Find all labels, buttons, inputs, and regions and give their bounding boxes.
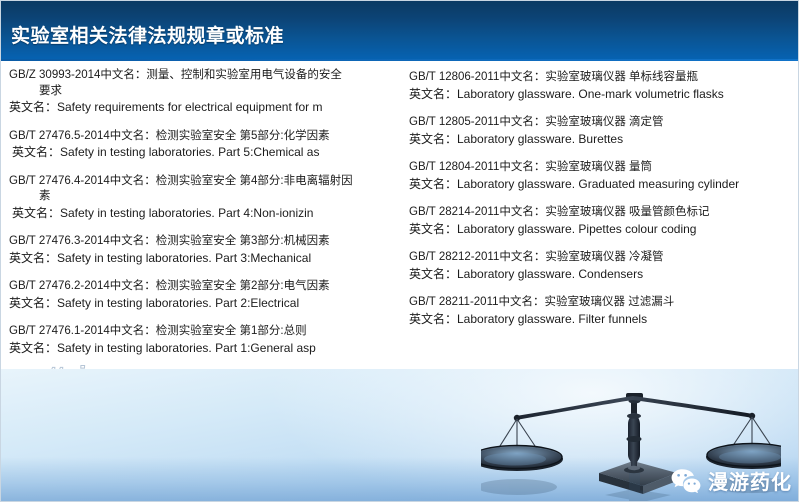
standard-entry: GB/T 28211-2011中文名：实验室玻璃仪器 过滤漏斗 英文名：Labo… [409,295,794,327]
standard-cn-name: GB/T 27476.5-2014中文名：检测实验室安全 第5部分:化学因素 [9,129,399,145]
standard-entry: GB/T 27476.3-2014中文名：检测实验室安全 第3部分:机械因素 英… [9,234,399,266]
standard-cn-name-cont: 要求 [9,84,399,100]
standard-cn-name: GB/T 27476.4-2014中文名：检测实验室安全 第4部分:非电离辐射因 [9,174,399,190]
standard-en-name: 英文名：Safety in testing laboratories. Part… [9,341,399,357]
standard-en-name: 英文名：Laboratory glassware. Graduated meas… [409,177,794,193]
standard-en-name: 英文名：Laboratory glassware. Burettes [409,132,794,148]
standard-en-name: 英文名：Laboratory glassware. One-mark volum… [409,87,794,103]
standard-entry: GB/T 27476.5-2014中文名：检测实验室安全 第5部分:化学因素 英… [9,129,399,161]
standard-cn-name: GB/T 28214-2011中文名：实验室玻璃仪器 吸量管颜色标记 [409,205,794,221]
standard-entry: GB/Z 30993-2014中文名：测量、控制和实验室用电气设备的安全 要求 … [9,68,399,116]
standard-en-name: 英文名：Safety in testing laboratories. Part… [9,296,399,312]
standard-en-name: 英文名：Laboratory glassware. Pipettes colou… [409,222,794,238]
standard-en-name: 英文名：Laboratory glassware. Filter funnels [409,312,794,328]
standard-cn-name: GB/T 12804-2011中文名：实验室玻璃仪器 量筒 [409,160,794,176]
standard-cn-name-cont: 素 [9,189,399,205]
title-banner: 实验室相关法律法规规章或标准 [1,1,799,61]
wechat-account-name: 漫游药化 [708,466,792,495]
wechat-icon [671,468,701,493]
standard-cn-name: GB/T 27476.1-2014中文名：检测实验室安全 第1部分:总则 [9,324,399,340]
standard-entry: GB/T 12805-2011中文名：实验室玻璃仪器 滴定管 英文名：Labor… [409,115,794,147]
standard-cn-name: GB/T 27476.3-2014中文名：检测实验室安全 第3部分:机械因素 [9,234,399,250]
standards-column-left: GB/Z 30993-2014中文名：测量、控制和实验室用电气设备的安全 要求 … [9,61,399,414]
standard-entry: GB/T 12804-2011中文名：实验室玻璃仪器 量筒 英文名：Labora… [409,160,794,192]
standard-entry: GB/T 27476.1-2014中文名：检测实验室安全 第1部分:总则 英文名… [9,324,399,356]
standard-entry: GB/T 27476.4-2014中文名：检测实验室安全 第4部分:非电离辐射因… [9,174,399,222]
standard-en-name: 英文名：Safety in testing laboratories. Part… [9,251,399,267]
wechat-badge[interactable]: 漫游药化 [671,466,792,495]
slide: 实验室相关法律法规规章或标准 GB/Z 30993-2014中文名：测量、控制和… [0,0,799,502]
standards-column-right: GB/T 12806-2011中文名：实验室玻璃仪器 单标线容量瓶 英文名：La… [409,61,794,340]
standard-cn-name: GB/T 28212-2011中文名：实验室玻璃仪器 冷凝管 [409,250,794,266]
page-title: 实验室相关法律法规规章或标准 [11,21,284,48]
standard-entry: GB/T 28214-2011中文名：实验室玻璃仪器 吸量管颜色标记 英文名：L… [409,205,794,237]
standard-entry: GB/T 27476.2-2014中文名：检测实验室安全 第2部分:电气因素 英… [9,279,399,311]
standard-cn-name: GB/T 28211-2011中文名：实验室玻璃仪器 过滤漏斗 [409,295,794,311]
standard-cn-name: GB/T 27476.2-2014中文名：检测实验室安全 第2部分:电气因素 [9,279,399,295]
balance-scale-photo: 漫游药化 [1,369,799,502]
standard-cn-name: GB/T 12806-2011中文名：实验室玻璃仪器 单标线容量瓶 [409,70,794,86]
standard-en-name: 英文名：Safety requirements for electrical e… [9,100,399,116]
standard-cn-name: GB/T 12805-2011中文名：实验室玻璃仪器 滴定管 [409,115,794,131]
standard-entry: GB/T 12806-2011中文名：实验室玻璃仪器 单标线容量瓶 英文名：La… [409,70,794,102]
standard-en-name: 英文名：Safety in testing laboratories. Part… [9,206,399,222]
standard-entry: GB/T 28212-2011中文名：实验室玻璃仪器 冷凝管 英文名：Labor… [409,250,794,282]
standard-cn-name: GB/Z 30993-2014中文名：测量、控制和实验室用电气设备的安全 [9,68,399,84]
standards-content: GB/Z 30993-2014中文名：测量、控制和实验室用电气设备的安全 要求 … [1,61,799,371]
standard-en-name: 英文名：Laboratory glassware. Condensers [409,267,794,283]
standard-en-name: 英文名：Safety in testing laboratories. Part… [9,145,399,161]
